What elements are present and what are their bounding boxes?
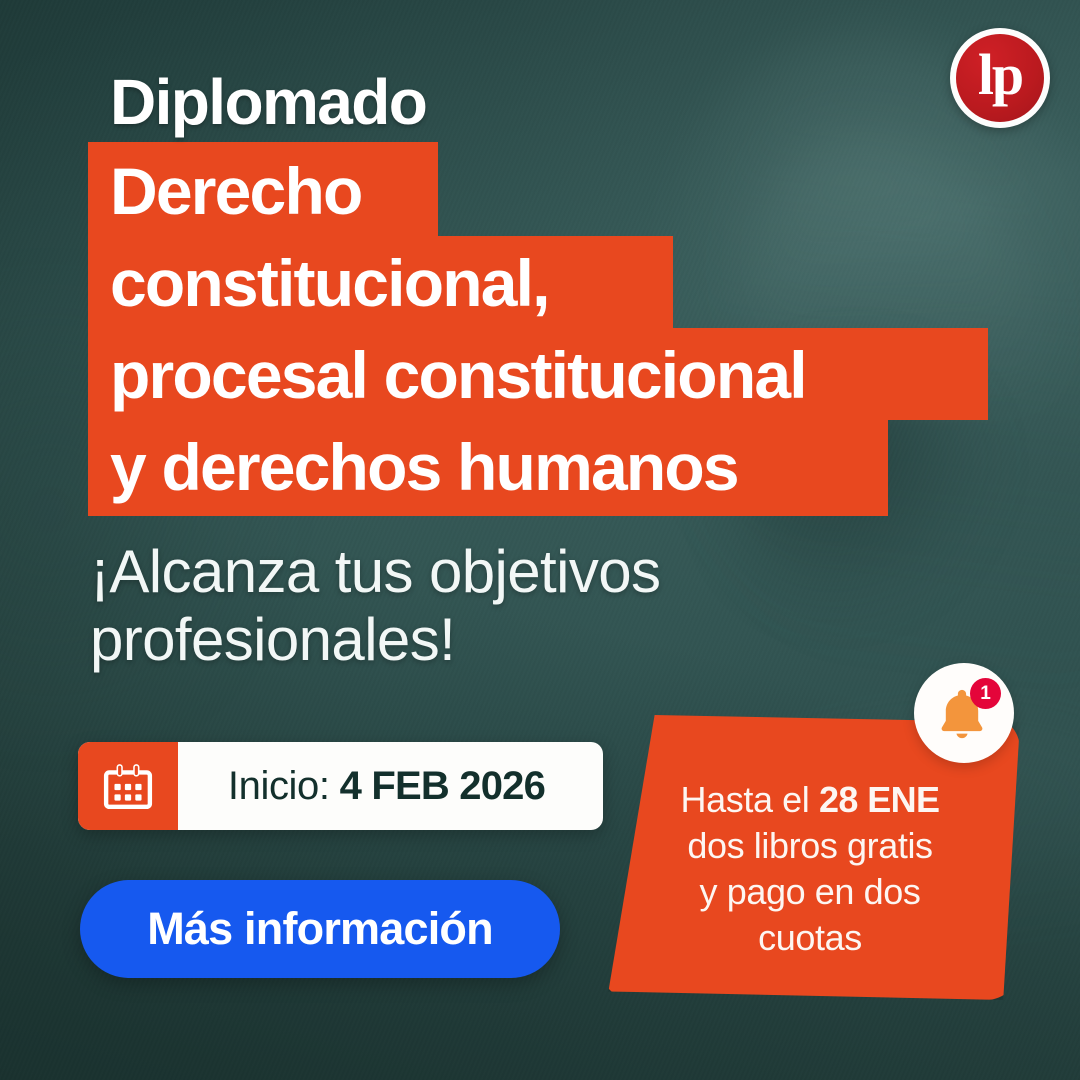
bell-icon: 1 [914, 663, 1014, 763]
start-date-text: Inicio: 4 FEB 2026 [178, 742, 603, 830]
title-line: y derechos humanos [88, 420, 888, 516]
promo-line: y pago en dos [618, 869, 1002, 915]
start-date-value: 4 FEB 2026 [340, 764, 545, 809]
more-info-button[interactable]: Más información [80, 880, 560, 978]
promo-line: cuotas [618, 915, 1002, 961]
subtitle: ¡Alcanza tus objetivos profesionales! [90, 538, 900, 674]
title-line: constitucional, [88, 236, 673, 328]
page-title: Derecho constitucional, procesal constit… [88, 142, 1018, 516]
promo-text: Hasta el 28 ENE dos libros gratis y pago… [618, 777, 1002, 961]
title-line: procesal constitucional [88, 328, 988, 420]
promo-deadline-date: 28 ENE [819, 779, 939, 820]
headline-block: Diplomado Derecho constitucional, proces… [88, 70, 1018, 516]
promo-line: dos libros gratis [618, 823, 1002, 869]
subtitle-line: ¡Alcanza tus objetivos [90, 538, 900, 606]
start-date-pill: Inicio: 4 FEB 2026 [78, 742, 603, 830]
notification-badge-count: 1 [970, 678, 1001, 709]
calendar-icon [78, 742, 178, 830]
promo-offer-card: Hasta el 28 ENE dos libros gratis y pago… [600, 715, 1020, 1000]
kicker-label: Diplomado [110, 70, 1018, 134]
promo-line-prefix: Hasta el [681, 779, 819, 820]
promo-poster: lp Diplomado Derecho constitucional, pro… [0, 0, 1080, 1080]
title-line: Derecho [88, 142, 438, 236]
subtitle-line: profesionales! [90, 606, 900, 674]
promo-line: Hasta el 28 ENE [618, 777, 1002, 823]
start-date-label: Inicio: [228, 764, 330, 809]
